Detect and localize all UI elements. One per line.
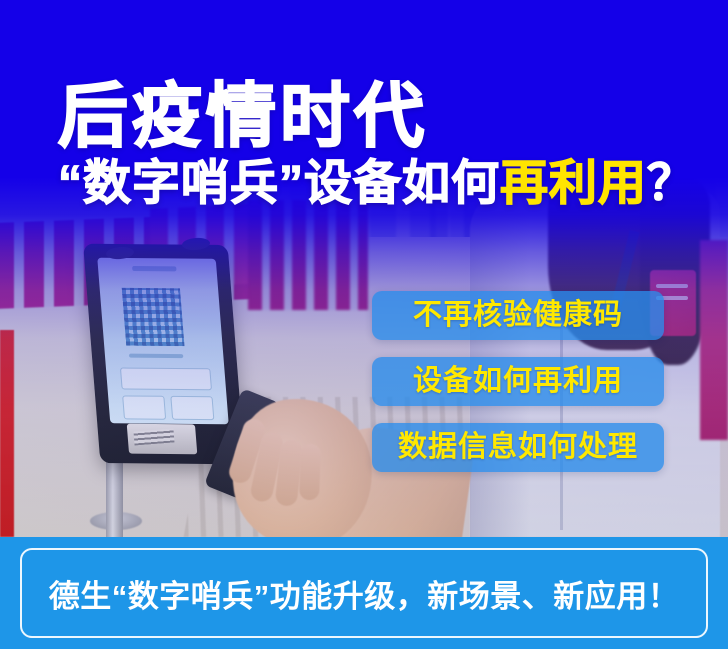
poster-root: 后疫情时代 “数字哨兵”设备如何再利用？ 不再核验健康码 设备如何再利用 数据信… — [0, 0, 728, 649]
headline-line-2-prefix: “数字哨兵”设备如何 — [58, 157, 500, 210]
footer-banner: 德生“数字哨兵”功能升级，新场景、新应用！ — [0, 537, 728, 649]
headline-block: 后疫情时代 “数字哨兵”设备如何再利用？ — [58, 78, 698, 212]
topic-pill-3-label: 数据信息如何处理 — [398, 433, 638, 462]
topic-pill-3[interactable]: 数据信息如何处理 — [372, 423, 664, 472]
topic-pill-1[interactable]: 不再核验健康码 — [372, 291, 664, 340]
headline-line-2-accent: 再利用 — [500, 157, 647, 210]
topic-pill-list: 不再核验健康码 设备如何再利用 数据信息如何处理 — [372, 291, 664, 472]
topic-pill-2[interactable]: 设备如何再利用 — [372, 357, 664, 406]
topic-pill-1-label: 不再核验健康码 — [413, 301, 623, 330]
headline-line-1: 后疫情时代 — [58, 78, 698, 154]
headline-line-2: “数字哨兵”设备如何再利用？ — [58, 156, 698, 212]
footer-slogan: 德生“数字哨兵”功能升级，新场景、新应用！ — [0, 537, 728, 649]
headline-line-2-suffix: ？ — [647, 157, 696, 210]
topic-pill-2-label: 设备如何再利用 — [413, 367, 623, 396]
